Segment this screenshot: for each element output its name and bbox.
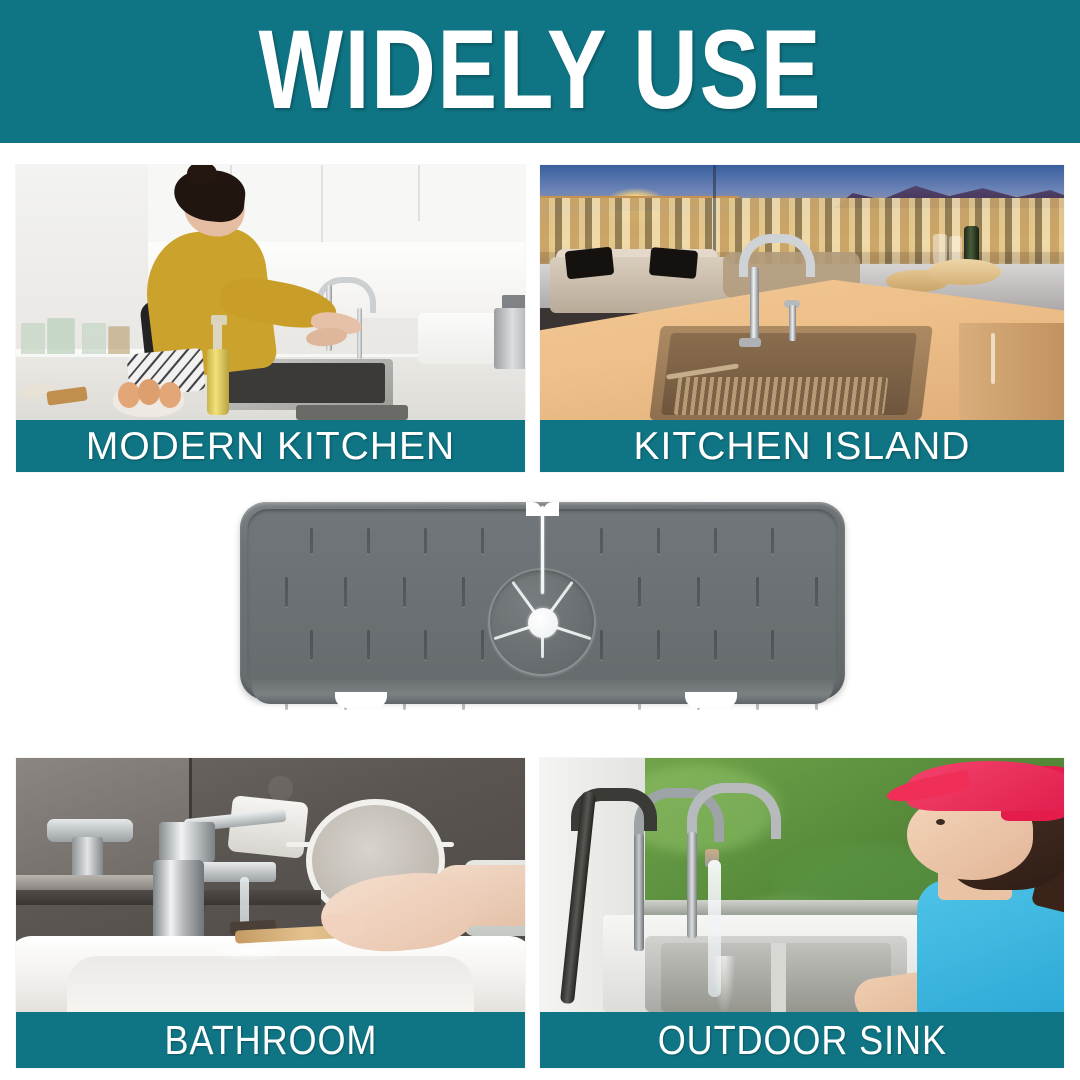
panel-label-text: KITCHEN ISLAND: [634, 427, 971, 466]
drain-notch: [685, 692, 737, 708]
panel-kitchen-island[interactable]: KITCHEN ISLAND: [540, 165, 1064, 472]
drainage-slot: [771, 528, 774, 554]
drainage-slot: [367, 528, 370, 554]
mat-body: [240, 502, 845, 700]
drainage-slot: [756, 577, 759, 607]
drainage-slot: [481, 528, 484, 554]
drainage-slot: [367, 630, 370, 660]
panel-modern-kitchen[interactable]: MODERN KITCHEN: [16, 165, 525, 472]
photo-outdoor-sink: [540, 758, 1064, 1012]
page-title: WIDELY USE: [258, 14, 822, 126]
panel-label-text: OUTDOOR SINK: [657, 1020, 946, 1061]
drainage-slot: [310, 630, 313, 660]
product-stage: [0, 480, 1080, 748]
drainage-slot: [344, 577, 347, 607]
faucet-icon: [153, 860, 204, 946]
drainage-slot: [600, 528, 603, 554]
top-slit-notch-right: [543, 502, 559, 516]
drainage-slot: [714, 630, 717, 660]
photo-modern-kitchen: [16, 165, 525, 420]
drainage-slot: [462, 577, 465, 607]
drainage-slot: [771, 630, 774, 660]
photo-bathroom: [16, 758, 525, 1012]
scene-modern-kitchen: [16, 165, 525, 420]
drainage-slot: [697, 577, 700, 607]
drainage-slot: [424, 630, 427, 660]
drainage-slot: [815, 577, 818, 607]
drainage-slot: [600, 630, 603, 660]
drainage-slot: [714, 528, 717, 554]
faucet-icon: [687, 783, 781, 839]
panel-bathroom[interactable]: BATHROOM: [16, 758, 525, 1068]
faucet-cutout-center: [528, 608, 558, 638]
drainage-slot: [657, 528, 660, 554]
label-bar-outdoor-sink: OUTDOOR SINK: [540, 1012, 1064, 1068]
panel-outdoor-sink[interactable]: OUTDOOR SINK: [540, 758, 1064, 1068]
drainage-slot: [310, 528, 313, 554]
photo-kitchen-island: [540, 165, 1064, 420]
drain-notch: [335, 692, 387, 708]
label-bar-kitchen-island: KITCHEN ISLAND: [540, 420, 1064, 472]
drainage-slot: [657, 630, 660, 660]
label-bar-modern-kitchen: MODERN KITCHEN: [16, 420, 525, 472]
scene-kitchen-island: [540, 165, 1064, 420]
scene-outdoor-sink: [540, 758, 1064, 1012]
drainage-slot: [481, 630, 484, 660]
panel-label-text: BATHROOM: [164, 1020, 377, 1061]
scene-bathroom: [16, 758, 525, 1012]
drainage-slot: [285, 577, 288, 607]
product-silicone-faucet-mat[interactable]: [240, 502, 845, 714]
panel-label-text: MODERN KITCHEN: [86, 427, 455, 466]
label-bar-bathroom: BATHROOM: [16, 1012, 525, 1068]
header-banner: WIDELY USE: [0, 0, 1080, 143]
drainage-slot: [403, 577, 406, 607]
drainage-slot: [424, 528, 427, 554]
drainage-slot: [638, 577, 641, 607]
top-center-slit: [541, 506, 544, 594]
